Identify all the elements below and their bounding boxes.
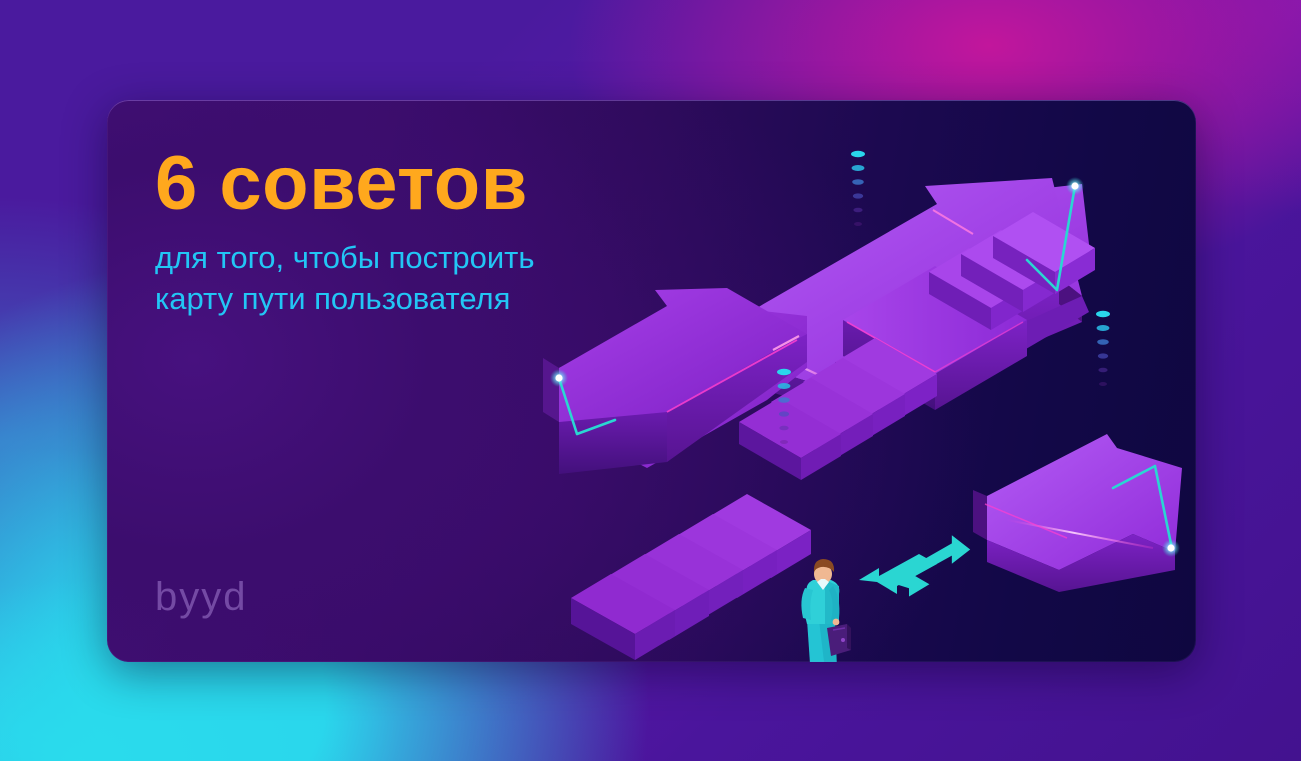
dot-column-top bbox=[851, 151, 865, 226]
subtitle: для того, чтобы построить карту пути пол… bbox=[155, 238, 535, 320]
dot-column-right bbox=[1096, 311, 1110, 386]
headline-block: 6 советов для того, чтобы построить карт… bbox=[155, 146, 535, 320]
subtitle-line-2: карту пути пользователя bbox=[155, 279, 535, 320]
hand bbox=[833, 619, 840, 626]
arrow-down-right bbox=[973, 434, 1182, 592]
subtitle-line-1: для того, чтобы построить bbox=[155, 238, 535, 279]
businessman bbox=[801, 559, 851, 662]
page-title: 6 советов bbox=[155, 146, 535, 222]
staircase-lower bbox=[571, 494, 811, 660]
promo-card: 6 советов для того, чтобы построить карт… bbox=[107, 100, 1196, 662]
byyd-logo: byyd bbox=[155, 575, 248, 620]
poster-canvas: 6 советов для того, чтобы построить карт… bbox=[0, 0, 1301, 761]
cyan-direction-arrow bbox=[859, 535, 970, 596]
